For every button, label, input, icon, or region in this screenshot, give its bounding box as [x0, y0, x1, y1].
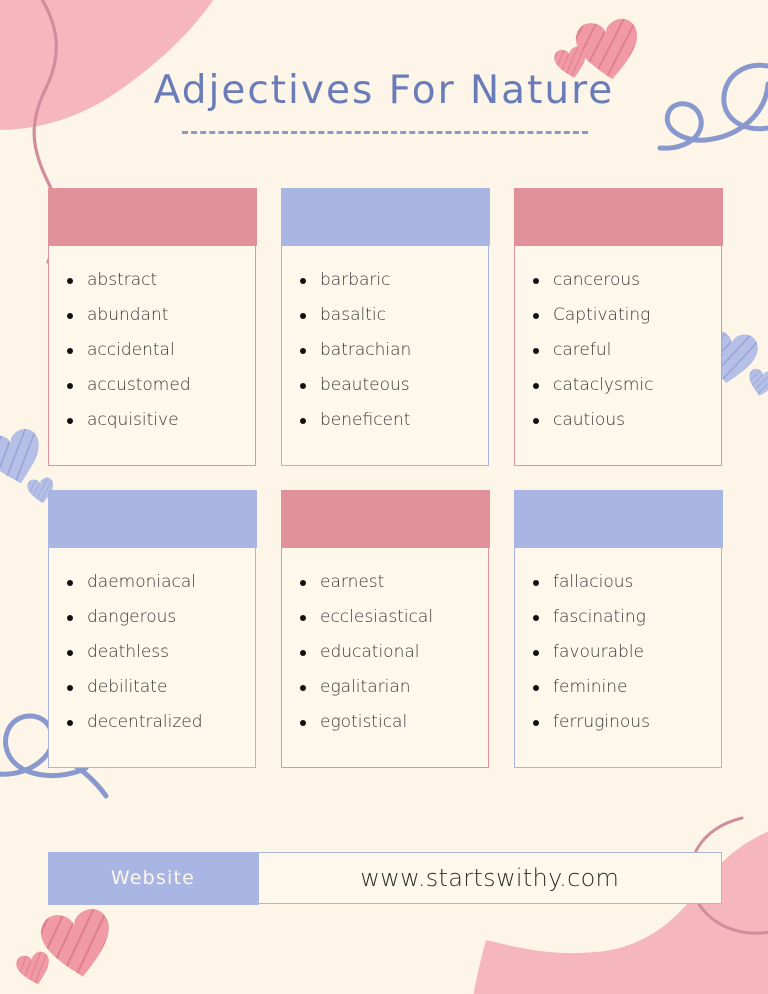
word-card-d: daemoniacal dangerous deathless debilita… [48, 490, 256, 768]
list-item: batrachian [294, 342, 480, 359]
list-item: deathless [61, 644, 247, 661]
card-body-a: abstract abundant accidental accustomed … [49, 246, 255, 466]
list-item: educational [294, 644, 480, 661]
list-item: basaltic [294, 307, 480, 324]
website-url[interactable]: www.startswithy.com [259, 853, 722, 903]
list-item: ecclesiastical [294, 609, 480, 626]
word-card-a: abstract abundant accidental accustomed … [48, 188, 256, 466]
word-card-c: cancerous Captivating careful cataclysmi… [514, 188, 722, 466]
word-card-grid: abstract abundant accidental accustomed … [48, 188, 722, 792]
word-list-c: cancerous Captivating careful cataclysmi… [527, 272, 713, 429]
list-item: daemoniacal [61, 574, 247, 591]
card-body-e: earnest ecclesiastical educational egali… [282, 548, 488, 768]
word-card-f: fallacious fascinating favourable femini… [514, 490, 722, 768]
card-body-b: barbaric basaltic batrachian beauteous b… [282, 246, 488, 466]
list-item: accidental [61, 342, 247, 359]
list-item: abstract [61, 272, 247, 289]
list-item: cataclysmic [527, 377, 713, 394]
list-item: careful [527, 342, 713, 359]
card-body-c: cancerous Captivating careful cataclysmi… [515, 246, 721, 466]
card-header-c [514, 188, 723, 246]
word-list-e: earnest ecclesiastical educational egali… [294, 574, 480, 731]
list-item: fallacious [527, 574, 713, 591]
list-item: favourable [527, 644, 713, 661]
list-item: earnest [294, 574, 480, 591]
card-header-a [48, 188, 257, 246]
card-header-e [281, 490, 490, 548]
list-item: cancerous [527, 272, 713, 289]
list-item: fascinating [527, 609, 713, 626]
word-card-b: barbaric basaltic batrachian beauteous b… [281, 188, 489, 466]
card-body-f: fallacious fascinating favourable femini… [515, 548, 721, 768]
word-list-a: abstract abundant accidental accustomed … [61, 272, 247, 429]
list-item: Captivating [527, 307, 713, 324]
list-item: cautious [527, 412, 713, 429]
card-row-1: abstract abundant accidental accustomed … [48, 188, 722, 466]
list-item: egotistical [294, 714, 480, 731]
card-header-d [48, 490, 257, 548]
list-item: feminine [527, 679, 713, 696]
list-item: beauteous [294, 377, 480, 394]
card-header-b [281, 188, 490, 246]
card-row-2: daemoniacal dangerous deathless debilita… [48, 490, 722, 768]
page-title: Adjectives For Nature [0, 70, 768, 113]
list-item: acquisitive [61, 412, 247, 429]
list-item: dangerous [61, 609, 247, 626]
list-item: abundant [61, 307, 247, 324]
list-item: debilitate [61, 679, 247, 696]
list-item: accustomed [61, 377, 247, 394]
title-dashed-underline [182, 131, 588, 134]
word-list-d: daemoniacal dangerous deathless debilita… [61, 574, 247, 731]
word-card-e: earnest ecclesiastical educational egali… [281, 490, 489, 768]
card-body-d: daemoniacal dangerous deathless debilita… [49, 548, 255, 768]
list-item: ferruginous [527, 714, 713, 731]
word-list-f: fallacious fascinating favourable femini… [527, 574, 713, 731]
list-item: barbaric [294, 272, 480, 289]
website-footer-bar: Website www.startswithy.com [48, 852, 722, 904]
title-block: Adjectives For Nature [0, 70, 768, 113]
card-header-f [514, 490, 723, 548]
list-item: egalitarian [294, 679, 480, 696]
word-list-b: barbaric basaltic batrachian beauteous b… [294, 272, 480, 429]
website-label: Website [48, 852, 259, 905]
list-item: beneficent [294, 412, 480, 429]
list-item: decentralized [61, 714, 247, 731]
poster-content: Adjectives For Nature abstract abundant … [0, 0, 768, 994]
